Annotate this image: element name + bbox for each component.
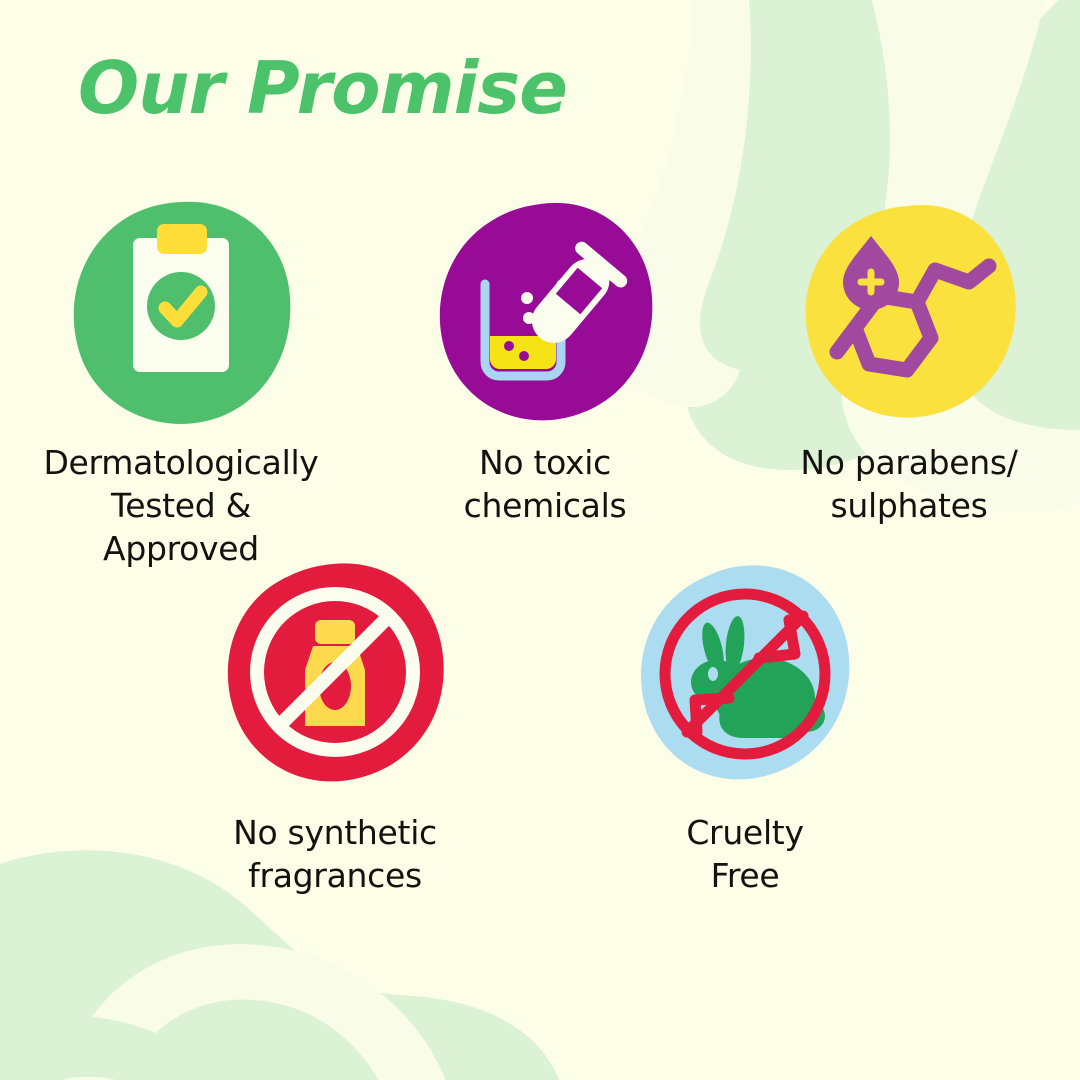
badge-dermatologically-tested[interactable]	[65, 196, 297, 428]
liquid-bubble	[519, 351, 529, 361]
clipboard-clip	[157, 224, 207, 254]
badge-no-synthetic-fragrances[interactable]	[219, 558, 451, 790]
leaf-shape-bottom-left-2	[0, 889, 480, 1080]
promise-caption: Dermatologically Tested & Approved	[31, 442, 331, 571]
badge-no-parabens-sulphates[interactable]	[793, 196, 1025, 428]
bottle-cap	[315, 620, 355, 644]
promise-item-cruelty-free[interactable]: Cruelty Free	[595, 558, 895, 898]
promise-item-no-synthetic-fragrances[interactable]: No synthetic fragrances	[185, 558, 485, 898]
promise-row-bottom: No synthetic fragrances	[0, 558, 1080, 898]
promise-caption: No parabens/ sulphates	[800, 442, 1017, 528]
beaker-test-tube-icon	[429, 196, 661, 428]
leaf-vein-bottom-left-2	[0, 1015, 255, 1080]
promise-item-no-parabens-sulphates[interactable]: No parabens/ sulphates	[759, 196, 1059, 528]
badge-no-toxic-chemicals[interactable]	[429, 196, 661, 428]
promise-item-dermatologically-tested[interactable]: Dermatologically Tested & Approved	[31, 196, 331, 571]
promise-infographic: Our Promise Dermatologically Tested & Ap…	[0, 0, 1080, 1080]
promise-caption: No synthetic fragrances	[233, 812, 437, 898]
badge-cruelty-free[interactable]	[629, 558, 861, 790]
blob-background	[806, 205, 1016, 418]
promise-caption: Cruelty Free	[686, 812, 803, 898]
leaf-vein-bottom-left	[60, 944, 450, 1080]
promise-caption: No toxic chemicals	[464, 442, 627, 528]
page-title: Our Promise	[78, 52, 567, 124]
rabbit-eye	[708, 667, 718, 681]
clipboard-check-icon	[65, 196, 297, 428]
promise-row-top: Dermatologically Tested & Approved	[0, 196, 1080, 571]
molecule-droplet-icon	[793, 196, 1025, 428]
liquid-bubble	[504, 341, 514, 351]
no-animal-testing-rabbit-icon	[629, 558, 861, 790]
promise-item-no-toxic-chemicals[interactable]: No toxic chemicals	[395, 196, 695, 528]
drop	[521, 292, 533, 304]
no-perfume-bottle-icon	[219, 558, 451, 790]
